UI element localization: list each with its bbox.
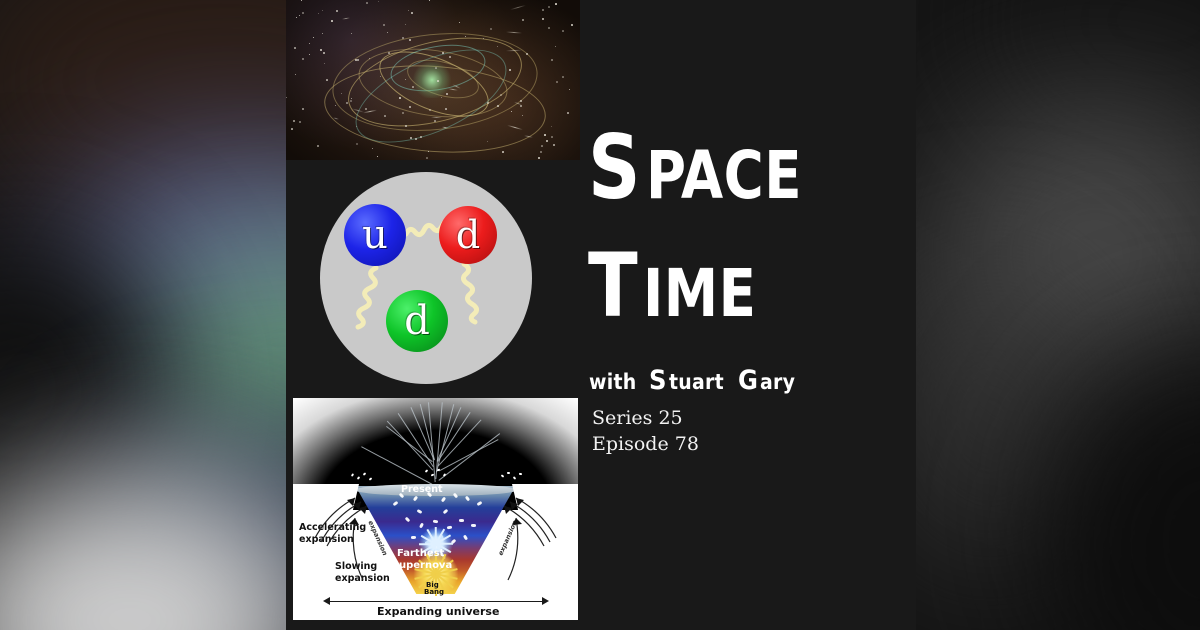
episode-number: Episode 78 [592,432,699,458]
axis-arrow-left [323,597,330,605]
byline-prefix: with [589,370,637,394]
brand-title-line-1: SPACE [588,128,815,209]
byline-name-rest-1: tuart [669,370,724,394]
quark-down-red: d [439,206,497,264]
byline-name-rest-2: ary [760,370,795,394]
axis-arrow-right [542,597,549,605]
universe-diagram: Present Accelerating expansion Slowing e… [293,398,578,620]
quark-down-green: d [386,290,448,352]
episode-meta: Series 25 Episode 78 [592,406,699,458]
brand-title-2-rest: IME [643,264,756,325]
quark-label-d-green: d [404,301,430,341]
series-number: Series 25 [592,406,699,432]
brand-title-line-2: TIME [588,246,766,327]
brand-title-1-rest: PACE [646,146,802,207]
quark-up: u [344,204,406,266]
byline-name-lead-2: G [738,365,758,396]
cover-art: u d d Present Accelerating expansion Sl [0,0,1200,630]
galaxy-thumbnail [286,0,580,160]
expanding-universe-axis [329,601,543,602]
quark-label-u: u [362,215,388,255]
byline: with Stuart Gary [589,365,799,396]
gluon-springs [286,160,580,398]
universe-thumbnail: Present Accelerating expansion Slowing e… [293,398,578,620]
byline-name-lead-1: S [649,365,667,396]
cover-panel: u d d Present Accelerating expansion Sl [286,0,916,630]
brand-title-1-lead: S [588,128,641,209]
brand-title-2-lead: T [588,246,638,327]
quark-label-d-red: d [456,216,480,254]
label-expanding-universe: Expanding universe [377,605,499,618]
expansion-inner-arcs [293,516,578,596]
neutron-thumbnail: u d d [286,160,580,398]
title-column: SPACE TIME with Stuart Gary Series 25 Ep… [588,0,916,630]
